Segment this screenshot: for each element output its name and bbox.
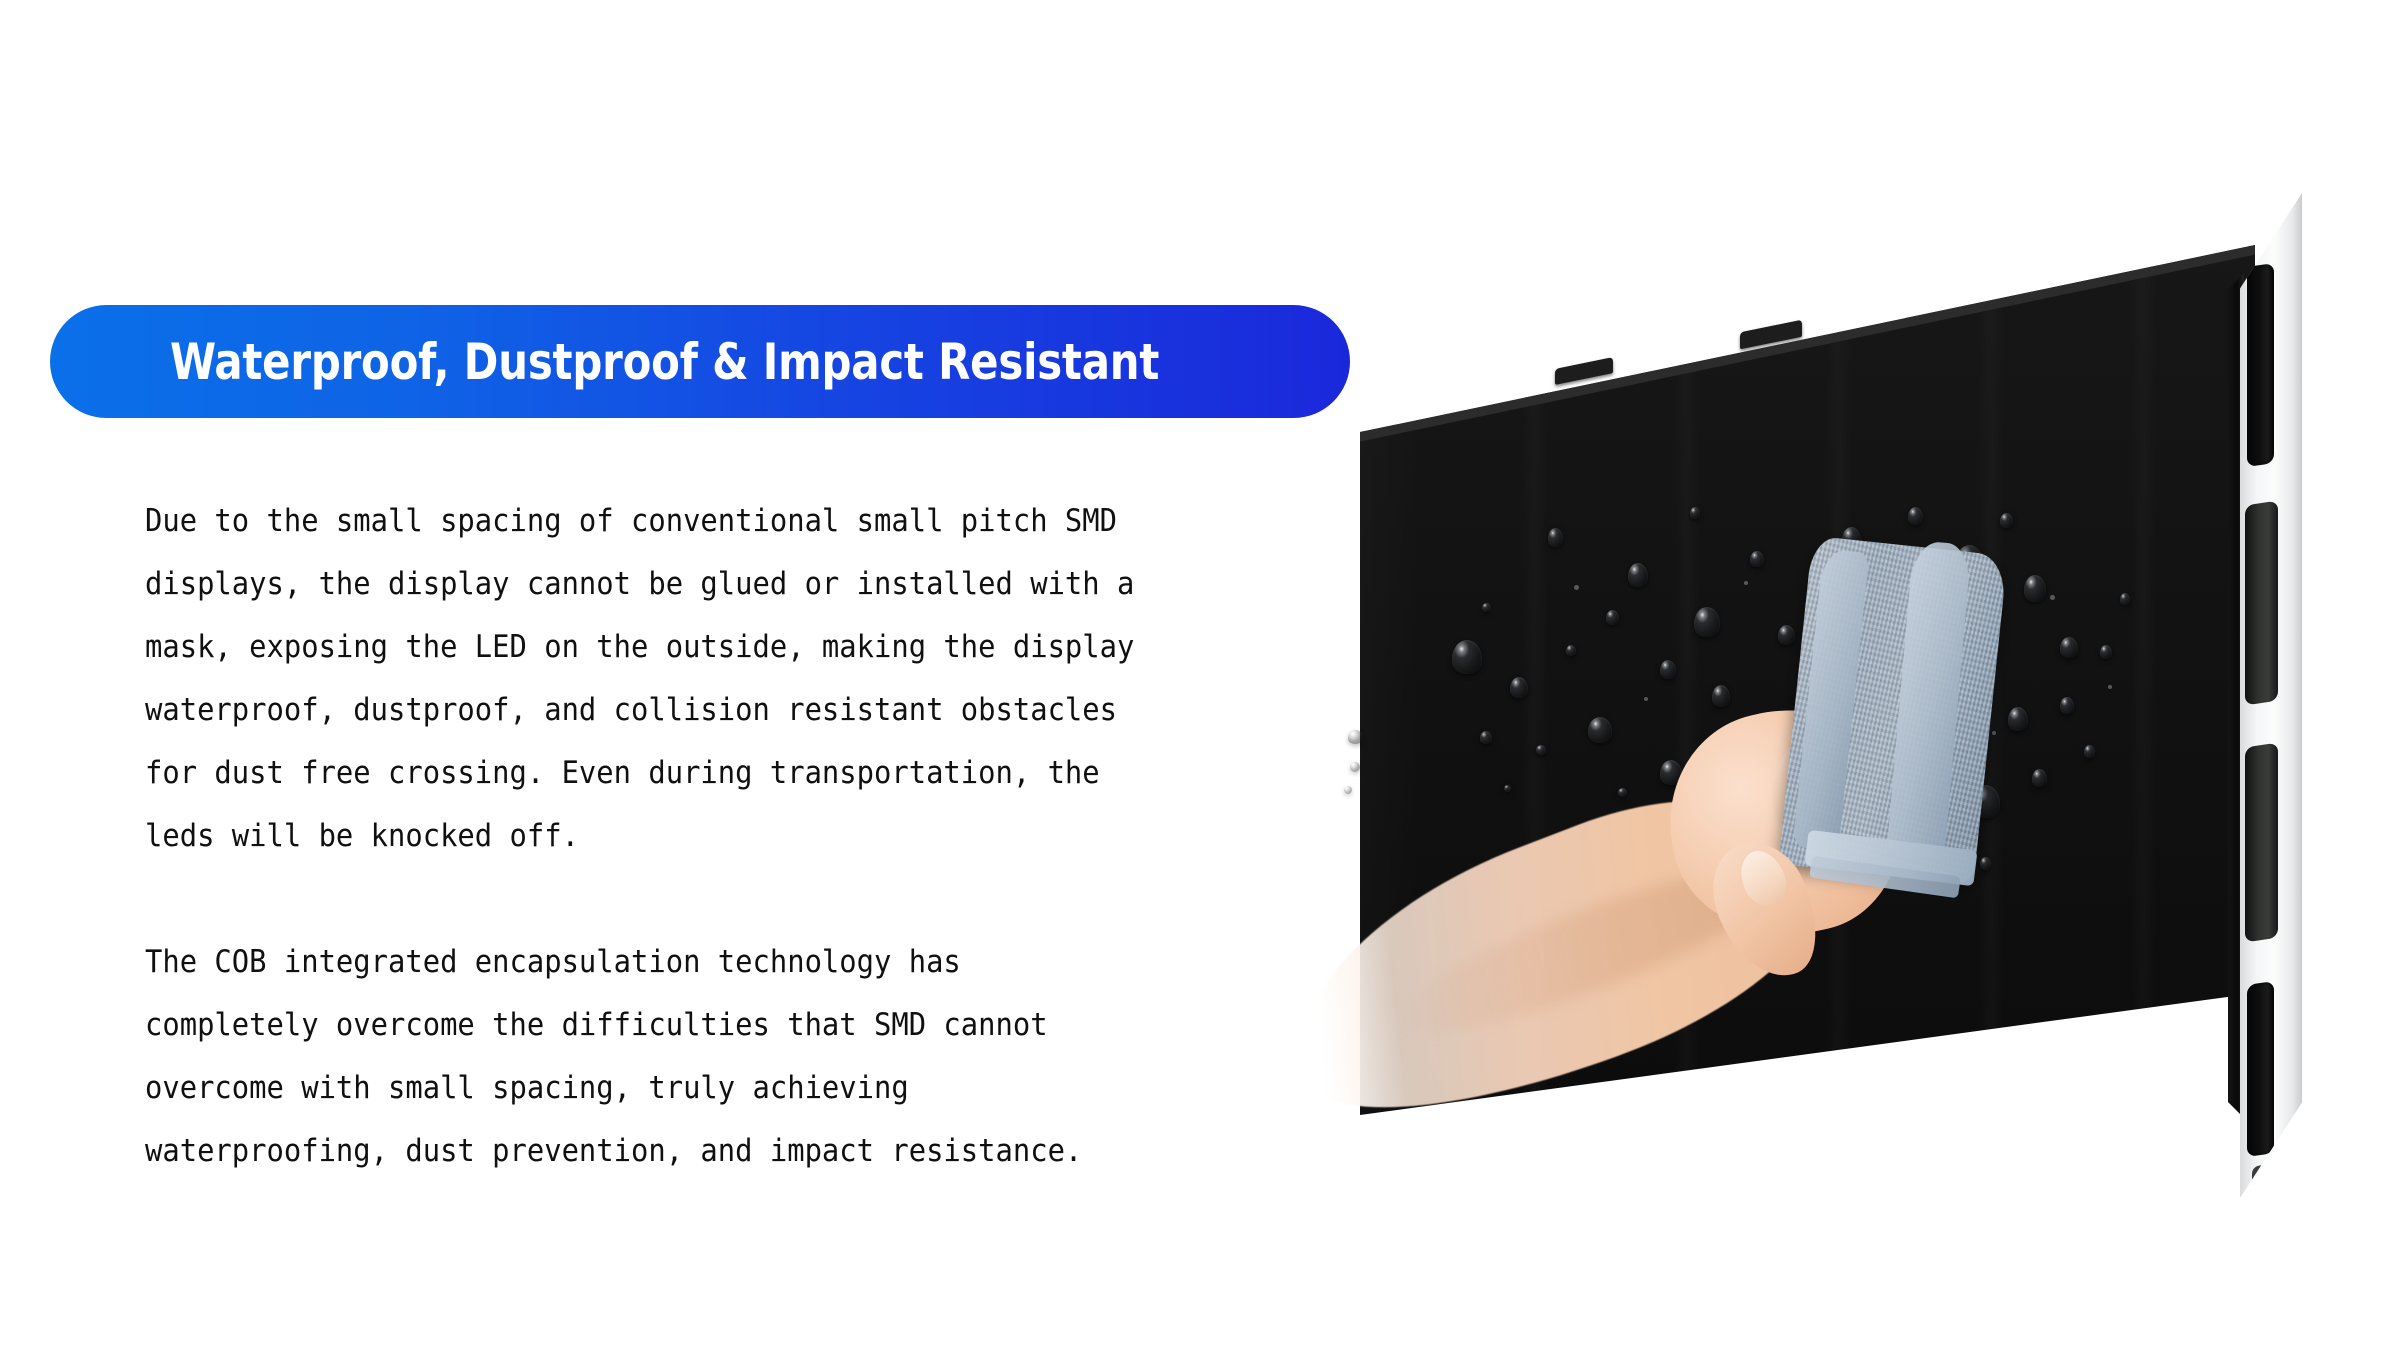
paragraph-2: The COB integrated encapsulation technol… [145,931,1325,1183]
copy-line: overcome with small spacing, truly achie… [145,1057,1242,1120]
product-image [1340,150,2400,1270]
slide-canvas: Waterproof, Dustproof & Impact Resistant… [0,0,2400,1350]
copy-line: displays, the display cannot be glued or… [145,553,1242,616]
copy-line: waterproof, dustproof, and collision res… [145,679,1242,742]
page-title: Waterproof, Dustproof & Impact Resistant [170,333,1159,391]
copy-line: mask, exposing the LED on the outside, m… [145,616,1242,679]
copy-line: for dust free crossing. Even during tran… [145,742,1242,805]
paragraph-1: Due to the small spacing of conventional… [145,490,1325,868]
copy-line: Due to the small spacing of conventional… [145,490,1242,553]
text-column: Waterproof, Dustproof & Impact Resistant… [0,0,1400,1350]
hand-with-towel [1340,150,2400,1270]
copy-line: waterproofing, dust prevention, and impa… [145,1120,1242,1183]
copy-line: The COB integrated encapsulation technol… [145,931,1242,994]
copy-line: leds will be knocked off. [145,805,1242,868]
copy-line: completely overcome the difficulties tha… [145,994,1242,1057]
paragraph-spacer [145,868,1325,931]
body-copy: Due to the small spacing of conventional… [145,490,1325,1183]
section-title-banner: Waterproof, Dustproof & Impact Resistant [50,305,1350,418]
